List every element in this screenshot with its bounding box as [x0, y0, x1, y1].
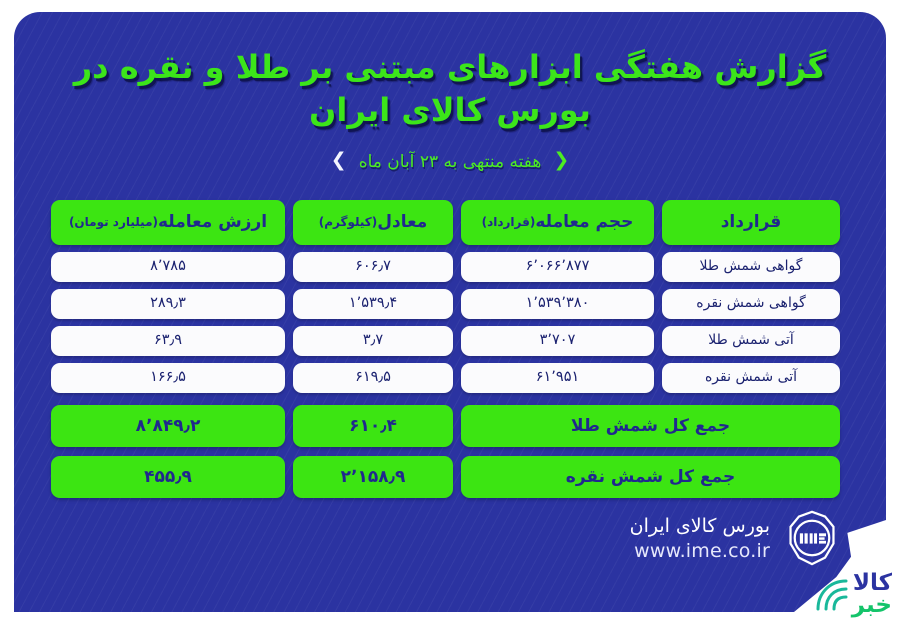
header-block: گزارش هفتگی ابزارهای مبتنی بر طلا و نقره…: [14, 46, 886, 172]
watermark-wrap: کالا خبر: [808, 555, 894, 629]
chevron-right-icon: ❮: [553, 151, 569, 170]
cell-volume: ۶٬۰۶۶٬۸۷۷: [461, 252, 654, 282]
chevron-left-icon: ❯: [331, 151, 347, 170]
cell-volume: ۱٬۵۳۹٬۳۸۰: [461, 289, 654, 319]
footer-organization: بورس کالای ایران: [630, 514, 770, 540]
cell-contract: گواهی شمش نقره: [662, 289, 840, 319]
column-header-value: ارزش معامله(میلیارد تومان): [51, 200, 285, 245]
table-total-row: جمع کل شمش نقره ۲٬۱۵۸٫۹ ۴۵۵٫۹: [60, 456, 840, 498]
table-row: آتی شمش طلا ۳٬۷۰۷ ۳٫۷ ۶۳٫۹: [60, 326, 840, 356]
table-row: آتی شمش نقره ۶۱٬۹۵۱ ۶۱۹٫۵ ۱۶۶٫۵: [60, 363, 840, 393]
cell-equivalent: ۱٬۵۳۹٫۴: [293, 289, 453, 319]
column-header-value-label: ارزش معامله: [158, 213, 267, 232]
poster-card: گزارش هفتگی ابزارهای مبتنی بر طلا و نقره…: [14, 12, 886, 612]
total-label: جمع کل شمش طلا: [461, 405, 840, 447]
watermark-word-two: خبر: [852, 595, 892, 617]
column-header-equivalent-unit: (کیلوگرم): [319, 216, 378, 229]
column-header-volume: حجم معامله(قرارداد): [461, 200, 654, 245]
cell-value: ۲۸۹٫۳: [51, 289, 285, 319]
column-header-equivalent-label: معادل: [377, 213, 427, 232]
column-header-volume-unit: (قرارداد): [482, 216, 536, 229]
total-label: جمع کل شمش نقره: [461, 456, 840, 498]
cell-value: ۱۶۶٫۵: [51, 363, 285, 393]
table-header-row: قرارداد حجم معامله(قرارداد) معادل(کیلوگر…: [60, 200, 840, 245]
kalakhabar-watermark: کالا خبر: [808, 555, 894, 629]
table-row: گواهی شمش طلا ۶٬۰۶۶٬۸۷۷ ۶۰۶٫۷ ۸٬۷۸۵: [60, 252, 840, 282]
column-header-value-unit: (میلیارد تومان): [69, 216, 158, 229]
cell-value: ۸٬۷۸۵: [51, 252, 285, 282]
total-equivalent: ۲٬۱۵۸٫۹: [293, 456, 453, 498]
cell-contract: آتی شمش طلا: [662, 326, 840, 356]
column-header-volume-label: حجم معامله: [535, 213, 633, 232]
total-value: ۴۵۵٫۹: [51, 456, 285, 498]
cell-equivalent: ۶۱۹٫۵: [293, 363, 453, 393]
table-row: گواهی شمش نقره ۱٬۵۳۹٬۳۸۰ ۱٬۵۳۹٫۴ ۲۸۹٫۳: [60, 289, 840, 319]
cell-volume: ۳٬۷۰۷: [461, 326, 654, 356]
total-value: ۸٬۸۴۹٫۲: [51, 405, 285, 447]
cell-value: ۶۳٫۹: [51, 326, 285, 356]
watermark-text: کالا خبر: [852, 573, 892, 617]
report-table: قرارداد حجم معامله(قرارداد) معادل(کیلوگر…: [60, 200, 840, 507]
page-subtitle: هفته منتهی به ۲۳ آبان ماه: [359, 152, 542, 172]
cell-equivalent: ۶۰۶٫۷: [293, 252, 453, 282]
page-title: گزارش هفتگی ابزارهای مبتنی بر طلا و نقره…: [14, 46, 886, 132]
table-total-row: جمع کل شمش طلا ۶۱۰٫۴ ۸٬۸۴۹٫۲: [60, 405, 840, 447]
column-header-equivalent: معادل(کیلوگرم): [293, 200, 453, 245]
cell-equivalent: ۳٫۷: [293, 326, 453, 356]
cell-volume: ۶۱٬۹۵۱: [461, 363, 654, 393]
cell-contract: آتی شمش نقره: [662, 363, 840, 393]
total-equivalent: ۶۱۰٫۴: [293, 405, 453, 447]
column-header-contract-label: قرارداد: [721, 213, 782, 232]
subtitle-row: ❮ هفته منتهی به ۲۳ آبان ماه ❯: [14, 152, 886, 172]
column-header-contract: قرارداد: [662, 200, 840, 245]
footer-website[interactable]: www.ime.co.ir: [630, 540, 770, 562]
infographic-poster: گزارش هفتگی ابزارهای مبتنی بر طلا و نقره…: [0, 0, 900, 631]
footer-text: بورس کالای ایران www.ime.co.ir: [630, 514, 770, 562]
cell-contract: گواهی شمش طلا: [662, 252, 840, 282]
